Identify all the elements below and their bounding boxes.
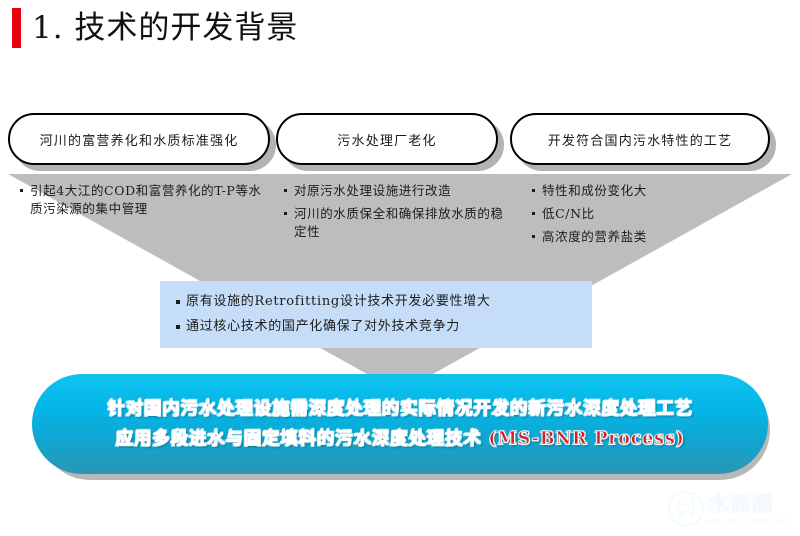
pill-label-1: 河川的富营养化和水质标准强化 xyxy=(40,130,239,149)
list-item: 河川的水质保全和确保排放水质的稳定性 xyxy=(282,205,512,241)
pill-box-river-eutrophication: 河川的富营养化和水质标准强化 xyxy=(8,113,270,165)
watermark-name: 水商圈 xyxy=(708,492,790,516)
title-accent-bar xyxy=(12,8,21,48)
watermark: 水商圈 web.h2o-china.com xyxy=(666,486,794,532)
list-item: 对原污水处理设施进行改造 xyxy=(282,182,512,200)
pill-box-domestic-process: 开发符合国内污水特性的工艺 xyxy=(510,113,770,165)
blue-summary-panel: 原有设施的Retrofitting设计技术开发必要性增大 通过核心技术的国产化确… xyxy=(160,281,592,348)
bullet-column-1: 引起4大江的COD和富营养化的T-P等水质污染源的集中管理 xyxy=(18,182,268,223)
list-item: 原有设施的Retrofitting设计技术开发必要性增大 xyxy=(174,290,592,314)
list-item: 高浓度的营养盐类 xyxy=(530,228,780,246)
pill-label-3: 开发符合国内污水特性的工艺 xyxy=(548,130,733,149)
page-title: 1. 技术的开发背景 xyxy=(12,8,298,48)
watermark-url: web.h2o-china.com xyxy=(708,516,790,526)
watermark-text: 水商圈 web.h2o-china.com xyxy=(708,492,790,526)
globe-icon xyxy=(666,489,706,529)
list-item: 特性和成份变化大 xyxy=(530,182,780,200)
slide-canvas: 1. 技术的开发背景 河川的富营养化和水质标准强化 污水处理厂老化 开发符合国内… xyxy=(0,0,800,536)
pill-box-plant-aging: 污水处理厂老化 xyxy=(276,113,498,165)
bullet-column-2: 对原污水处理设施进行改造 河川的水质保全和确保排放水质的稳定性 xyxy=(282,182,512,246)
capsule-line-1: 针对国内污水处理设施需深度处理的实际情况开发的新污水深度处理工艺 xyxy=(107,394,693,424)
pill-label-2: 污水处理厂老化 xyxy=(337,130,436,149)
list-item: 通过核心技术的国产化确保了对外技术竞争力 xyxy=(174,315,592,339)
list-item: 引起4大江的COD和富营养化的T-P等水质污染源的集中管理 xyxy=(18,182,268,218)
title-label: 1. 技术的开发背景 xyxy=(32,8,298,48)
capsule-line-2: 应用多段进水与固定填料的污水深度处理技术 (MS-BNR Process) xyxy=(115,424,684,454)
list-item: 低C/N比 xyxy=(530,205,780,223)
conclusion-capsule: 针对国内污水处理设施需深度处理的实际情况开发的新污水深度处理工艺 应用多段进水与… xyxy=(32,374,768,474)
bullet-column-3: 特性和成份变化大 低C/N比 高浓度的营养盐类 xyxy=(530,182,780,251)
